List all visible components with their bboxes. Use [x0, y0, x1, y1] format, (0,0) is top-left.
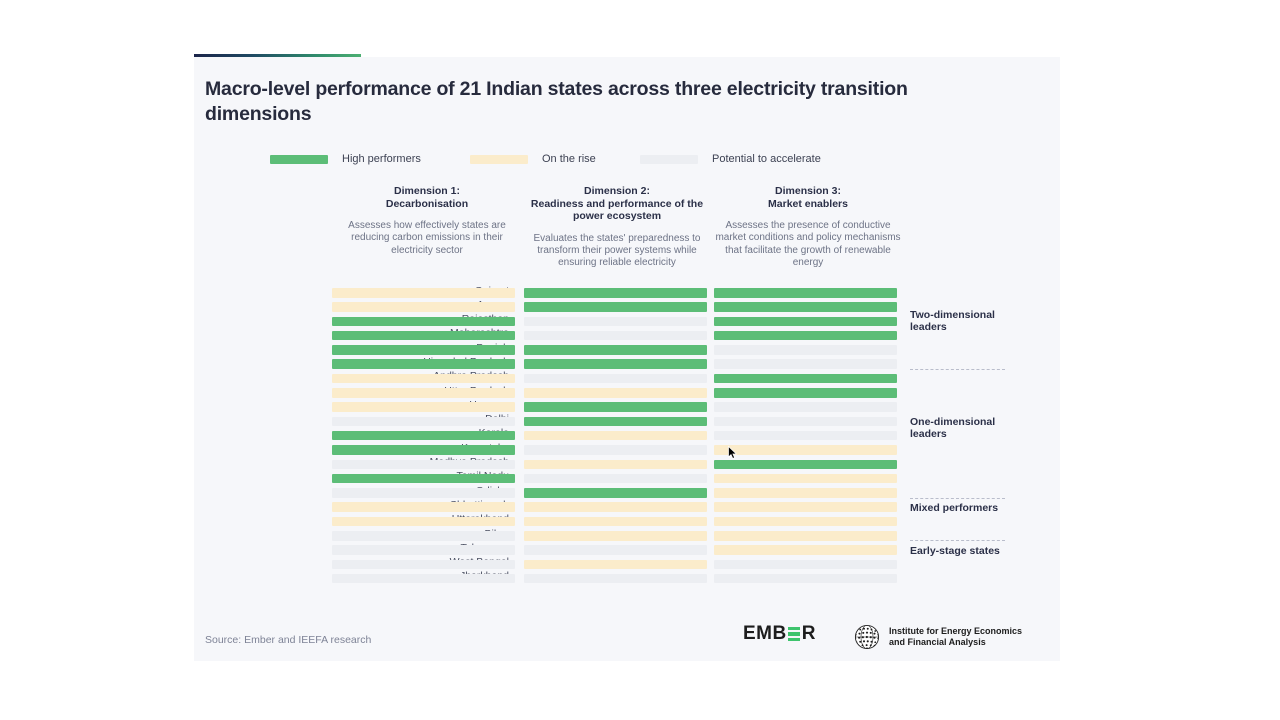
performance-bar: [714, 488, 897, 498]
dimension-title-2: Dimension 2:Readiness and performance of…: [522, 185, 712, 223]
performance-bar: [524, 402, 707, 412]
performance-bar: [524, 474, 707, 484]
performance-bar: [524, 445, 707, 455]
performance-bar: [332, 402, 515, 412]
performance-bar: [714, 331, 897, 341]
dimension-description-2: Evaluates the states' preparedness to tr…: [522, 233, 712, 270]
matrix-row: Karnataka: [194, 443, 1060, 457]
performance-bar: [332, 488, 515, 498]
legend-label-rise: On the rise: [542, 153, 596, 165]
ieefa-logo: Institute for Energy Economics and Finan…: [852, 622, 1022, 652]
matrix-row: Madhya Pradesh: [194, 458, 1060, 472]
performance-bar: [524, 302, 707, 312]
dimension-title-line: Readiness and performance of the power e…: [522, 198, 712, 223]
matrix-row: Punjab: [194, 343, 1060, 357]
matrix-row: Andhra Pradesh: [194, 372, 1060, 386]
performance-bar: [332, 417, 515, 427]
performance-bar: [714, 517, 897, 527]
performance-bar: [332, 560, 515, 570]
performance-bar: [332, 302, 515, 312]
performance-bar: [524, 374, 707, 384]
performance-bar: [714, 531, 897, 541]
performance-matrix: GujaratAssamRajasthanMaharashtraPunjabHi…: [194, 286, 1060, 586]
legend-label-potential: Potential to accelerate: [712, 153, 821, 165]
chart-card: Macro-level performance of 21 Indian sta…: [194, 57, 1060, 661]
performance-bar: [714, 302, 897, 312]
performance-bar: [714, 460, 897, 470]
performance-bar: [524, 288, 707, 298]
matrix-row: Gujarat: [194, 286, 1060, 300]
performance-bar: [714, 560, 897, 570]
performance-bar: [332, 345, 515, 355]
dimension-description-1: Assesses how effectively states are redu…: [332, 220, 522, 257]
performance-bar: [714, 374, 897, 384]
ieefa-logo-text: Institute for Energy Economics and Finan…: [889, 626, 1022, 648]
ember-logo-text-1: EMB: [743, 623, 787, 645]
performance-bar: [714, 288, 897, 298]
dimension-title-line: Dimension 2:: [522, 185, 712, 198]
dimension-title-1: Dimension 1:Decarbonisation: [332, 185, 522, 210]
dimension-title-line: Decarbonisation: [332, 198, 522, 211]
performance-bar: [332, 331, 515, 341]
performance-bar: [524, 502, 707, 512]
performance-bar: [332, 317, 515, 327]
dimension-header-2: Dimension 2:Readiness and performance of…: [522, 185, 712, 270]
legend-label-high: High performers: [342, 153, 421, 165]
performance-bar: [714, 474, 897, 484]
performance-bar: [524, 545, 707, 555]
matrix-row: Tamil Nadu: [194, 472, 1060, 486]
performance-bar: [332, 517, 515, 527]
performance-bar: [714, 402, 897, 412]
performance-bar: [524, 388, 707, 398]
performance-bar: [524, 517, 707, 527]
ieefa-line-1: Institute for Energy Economics: [889, 626, 1022, 637]
performance-bar: [524, 431, 707, 441]
dimension-header-3: Dimension 3:Market enablers Assesses the…: [712, 185, 904, 269]
dimension-title-line: Dimension 3:: [712, 185, 904, 198]
matrix-row: Uttar Pradesh: [194, 386, 1060, 400]
performance-bar: [332, 288, 515, 298]
performance-bar: [714, 574, 897, 584]
performance-bar: [524, 331, 707, 341]
performance-bar: [332, 531, 515, 541]
ember-logo-text-2: R: [802, 623, 816, 645]
dimension-title-line: Market enablers: [712, 198, 904, 211]
performance-bar: [524, 574, 707, 584]
performance-bar: [714, 431, 897, 441]
ieefa-line-2: and Financial Analysis: [889, 637, 1022, 648]
matrix-row: Jharkhand: [194, 572, 1060, 586]
legend-swatch-high: [270, 155, 328, 164]
performance-bar: [714, 545, 897, 555]
group-separator: [910, 540, 1005, 541]
legend-item-rise: On the rise: [470, 153, 596, 165]
dimension-title-3: Dimension 3:Market enablers: [712, 185, 904, 210]
group-label: Mixed performers: [910, 502, 1030, 514]
performance-bar: [714, 317, 897, 327]
matrix-row: Haryana: [194, 400, 1060, 414]
performance-bar: [332, 545, 515, 555]
dimension-description-3: Assesses the presence of conductive mark…: [712, 220, 904, 269]
performance-bar: [332, 502, 515, 512]
performance-bar: [332, 431, 515, 441]
globe-icon: [852, 622, 882, 652]
performance-bar: [714, 388, 897, 398]
dimension-title-line: Dimension 1:: [332, 185, 522, 198]
performance-bar: [332, 388, 515, 398]
group-separator: [910, 369, 1005, 370]
dimension-header-1: Dimension 1:Decarbonisation Assesses how…: [332, 185, 522, 257]
performance-bar: [524, 560, 707, 570]
ember-logo-e-icon: [788, 627, 800, 642]
performance-bar: [332, 574, 515, 584]
performance-bar: [524, 531, 707, 541]
performance-bar: [524, 345, 707, 355]
group-label: Two-dimensional leaders: [910, 309, 1030, 334]
matrix-row: West Bengal: [194, 558, 1060, 572]
legend-item-potential: Potential to accelerate: [640, 153, 821, 165]
performance-bar: [332, 445, 515, 455]
performance-bar: [524, 359, 707, 369]
performance-bar: [714, 445, 897, 455]
performance-bar: [524, 417, 707, 427]
matrix-row: Uttarakhand: [194, 515, 1060, 529]
group-label: Early-stage states: [910, 545, 1030, 557]
page-title: Macro-level performance of 21 Indian sta…: [205, 77, 965, 127]
group-label: One-dimensional leaders: [910, 416, 1030, 441]
performance-bar: [332, 474, 515, 484]
performance-bar: [524, 317, 707, 327]
performance-bar: [714, 345, 897, 355]
performance-bar: [332, 359, 515, 369]
source-note: Source: Ember and IEEFA research: [205, 634, 371, 646]
performance-bar: [332, 374, 515, 384]
group-separator: [910, 498, 1005, 499]
performance-bar: [714, 417, 897, 427]
performance-bar: [524, 488, 707, 498]
mouse-cursor: [728, 446, 738, 459]
performance-bar: [714, 502, 897, 512]
performance-bar: [524, 460, 707, 470]
performance-bar: [714, 359, 897, 369]
legend-item-high: High performers: [270, 153, 421, 165]
legend-swatch-potential: [640, 155, 698, 164]
ember-logo: EMB R: [743, 623, 816, 645]
performance-bar: [332, 460, 515, 470]
legend-swatch-rise: [470, 155, 528, 164]
